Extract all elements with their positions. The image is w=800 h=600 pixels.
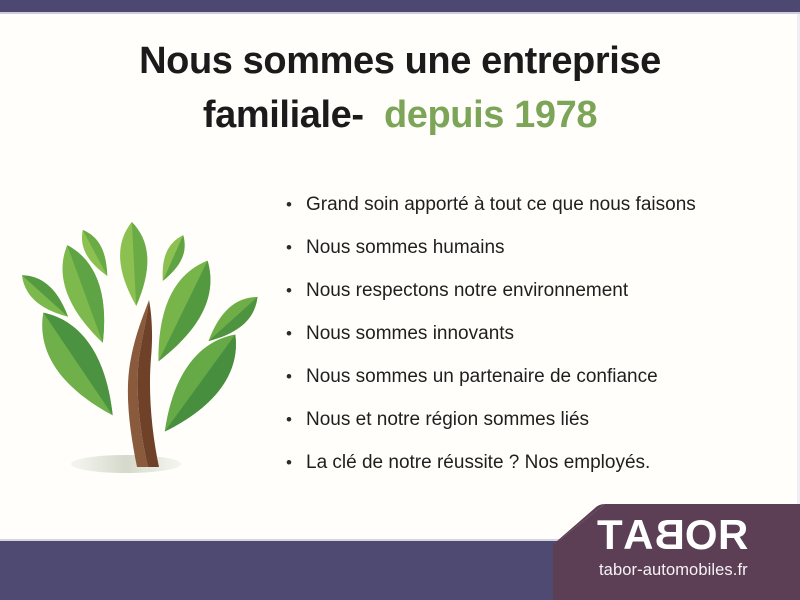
list-item-label: La clé de notre réussite ? Nos employés. <box>306 450 650 476</box>
tree-leaf-lower-left <box>26 301 130 427</box>
bullet-dot-icon: • <box>286 192 306 218</box>
logo-letter-o: O <box>685 512 718 558</box>
list-item: • Nous sommes humains <box>286 235 766 278</box>
title-dash: - <box>351 94 363 136</box>
top-accent-hairline <box>0 12 800 14</box>
bullet-list: • Grand soin apporté à tout ce que nous … <box>286 192 766 493</box>
bullet-dot-icon: • <box>286 364 306 390</box>
list-item-label: Nous sommes humains <box>306 235 505 261</box>
list-item: • Nous sommes innovants <box>286 321 766 364</box>
logo-letter-r: R <box>718 512 749 558</box>
logo-letter-b-mirrored: B <box>654 512 685 558</box>
bullet-dot-icon: • <box>286 450 306 476</box>
list-item-label: Nous sommes innovants <box>306 321 514 347</box>
logo-letter-a: A <box>623 512 654 558</box>
list-item-label: Grand soin apporté à tout ce que nous fa… <box>306 192 696 218</box>
logo-tagline: tabor-automobiles.fr <box>599 561 748 580</box>
title-highlight-depuis-1978: depuis 1978 <box>384 94 597 136</box>
list-item: • Nous respectons notre environnement <box>286 278 766 321</box>
list-item-label: Nous et notre région sommes liés <box>306 407 589 433</box>
list-item: • La clé de notre réussite ? Nos employé… <box>286 450 766 493</box>
list-item-label: Nous sommes un partenaire de confiance <box>306 364 658 390</box>
slide-canvas: Nous sommes une entreprise familiale- de… <box>0 0 800 600</box>
bullet-dot-icon: • <box>286 278 306 304</box>
slide-title: Nous sommes une entreprise familiale- de… <box>0 34 800 142</box>
brand-logo-panel: TABOR tabor-automobiles.fr <box>553 504 800 600</box>
tree-illustration <box>18 196 268 486</box>
list-item: • Nous et notre région sommes liés <box>286 407 766 450</box>
logo-text-wrap: TABOR tabor-automobiles.fr <box>553 504 800 600</box>
logo-letter-t: T <box>597 512 623 558</box>
tree-trunk <box>128 300 159 467</box>
tree-leaf-top-center <box>118 221 149 306</box>
bullet-dot-icon: • <box>286 235 306 261</box>
list-item-label: Nous respectons notre environnement <box>306 278 628 304</box>
tree-ground-shadow <box>71 455 181 473</box>
title-line-2: familiale- depuis 1978 <box>0 88 800 142</box>
bullet-dot-icon: • <box>286 321 306 347</box>
list-item: • Grand soin apporté à tout ce que nous … <box>286 192 766 235</box>
top-accent-band <box>0 0 800 12</box>
title-line-1: Nous sommes une entreprise <box>0 34 800 88</box>
logo-wordmark: TABOR <box>597 512 749 558</box>
bullet-dot-icon: • <box>286 407 306 433</box>
list-item: • Nous sommes un partenaire de confiance <box>286 364 766 407</box>
title-word-familiale: familiale <box>203 94 351 136</box>
